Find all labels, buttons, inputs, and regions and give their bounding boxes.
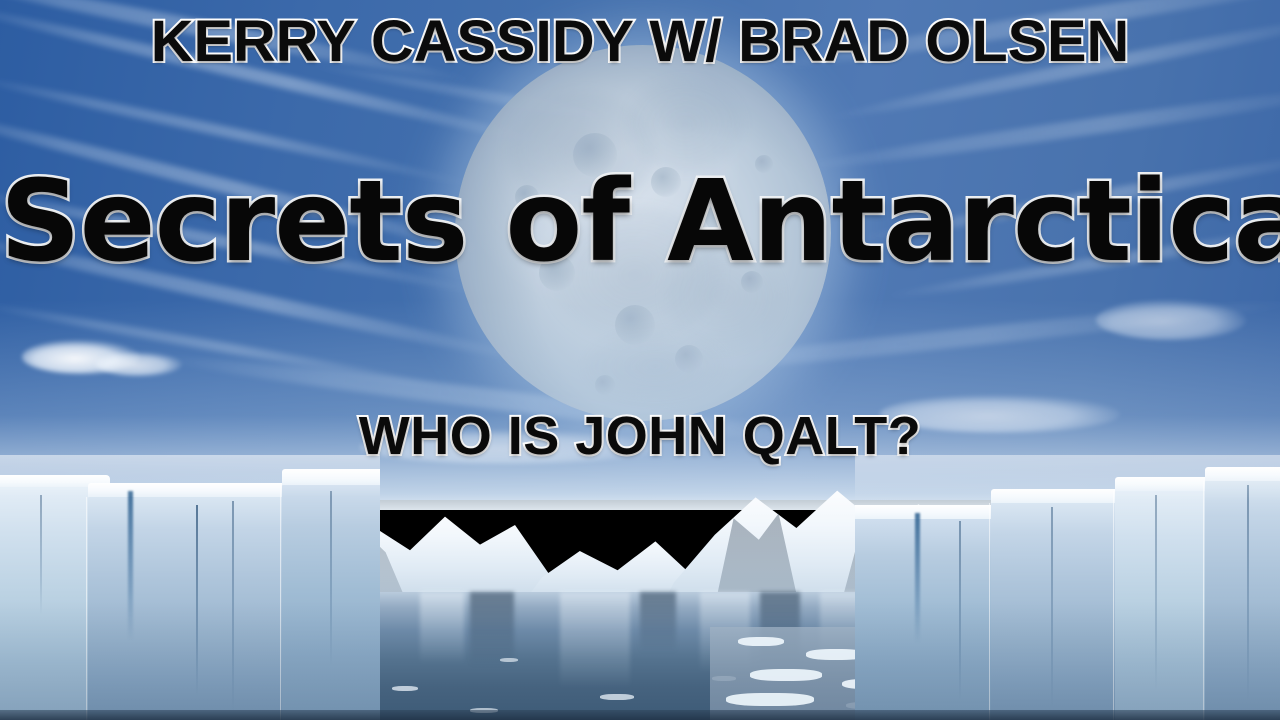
header-title: KERRY CASSIDY W/ BRAD OLSEN — [0, 8, 1280, 75]
bottom-letterbox-band — [0, 710, 1280, 720]
cloud-puff — [96, 352, 182, 376]
subtitle: WHO IS JOHN QALT? — [0, 405, 1280, 467]
cloud-puff — [1096, 300, 1246, 340]
ice-shelf-wall-left — [0, 455, 380, 720]
ice-shelf-wall-right — [855, 455, 1280, 720]
antarctic-landscape — [0, 455, 1280, 720]
video-thumbnail: KERRY CASSIDY W/ BRAD OLSEN Secrets of A… — [0, 0, 1280, 720]
page-title: Secrets of Antarctica — [0, 157, 1280, 287]
